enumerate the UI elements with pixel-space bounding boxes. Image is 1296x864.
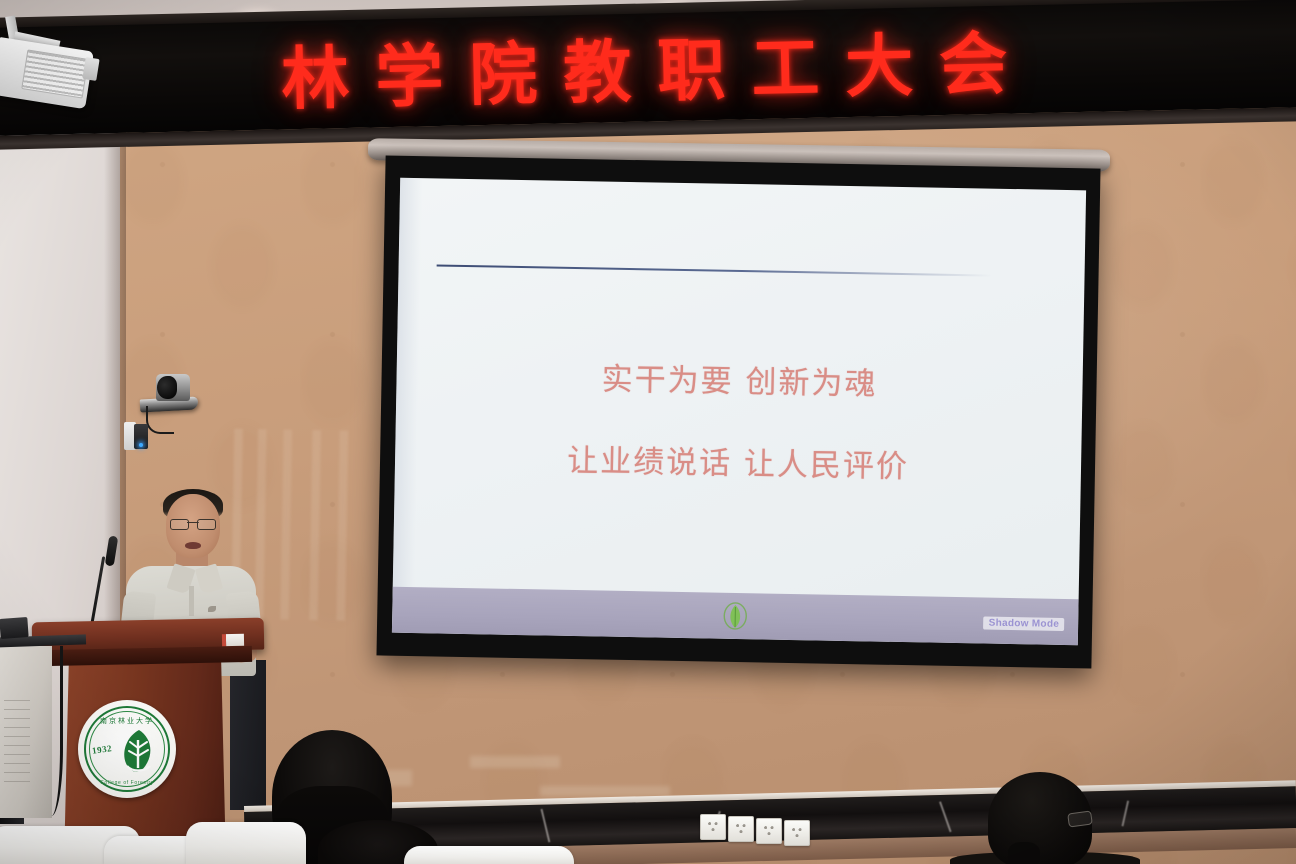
outlet-socket-icon [706,820,720,833]
wall-outlet[interactable] [728,816,754,842]
wall-outlet[interactable] [784,820,810,846]
chair-cover [186,822,306,864]
slide-left-band [392,178,422,633]
wall-scuff [470,756,560,768]
marble-vein [541,809,550,842]
presentation-slide: 实干为要 创新为魂 让业绩说话 让人民评价 Shadow Mode [392,178,1086,645]
marble-vein [939,802,951,833]
emblem-english-text: College of Forestry [78,780,176,786]
slide-watermark: Shadow Mode [984,617,1065,631]
chair-cover [404,846,574,864]
conference-hall-photo: 林学院教职工大会 实干为要 创新为魂 让业绩说话 让人民评价 Sha [0,0,1296,864]
slide-footer-bar: Shadow Mode [392,587,1079,646]
outlet-socket-icon [762,824,776,837]
camera-lens-icon [157,376,177,399]
slide-line-2: 让业绩说话 让人民评价 [395,432,1082,490]
speaker-shirt-placket [189,586,194,616]
green-leaf-logo-icon [722,601,749,631]
banner-text: 林学院教职工大会 [280,8,1034,123]
speaker-mouth [185,542,201,549]
speaker-glasses-icon [170,519,216,528]
emblem-leaf-tree-icon [118,728,160,774]
camera-cable [146,406,174,434]
speaker-trousers [230,660,266,810]
side-monitor [0,617,29,639]
audience-member-hair-bun [1008,842,1040,864]
glasses-left-lens [170,519,189,530]
wall-outlet[interactable] [700,814,726,840]
speaker-shirt-logo [208,606,216,612]
slide-line-1: 实干为要 创新为魂 [396,350,1083,408]
wall-outlet[interactable] [756,818,782,844]
outlet-socket-icon [790,826,804,839]
emblem-chinese-text: 南京林业大学 [78,716,176,726]
outlet-socket-icon [734,822,748,835]
podium-label-tag [222,634,244,646]
university-emblem: 南京林业大学 1932 College of Forestry [78,700,176,798]
marble-vein [1121,801,1129,827]
floor-cable [34,646,63,816]
projection-screen: 实干为要 创新为魂 让业绩说话 让人民评价 Shadow Mode [376,155,1100,668]
camera-status-led-icon [139,443,143,447]
slide-divider-rule [437,264,992,276]
side-panel-vents [4,700,30,790]
glasses-right-lens [197,519,216,530]
wall-scuff [540,786,670,796]
